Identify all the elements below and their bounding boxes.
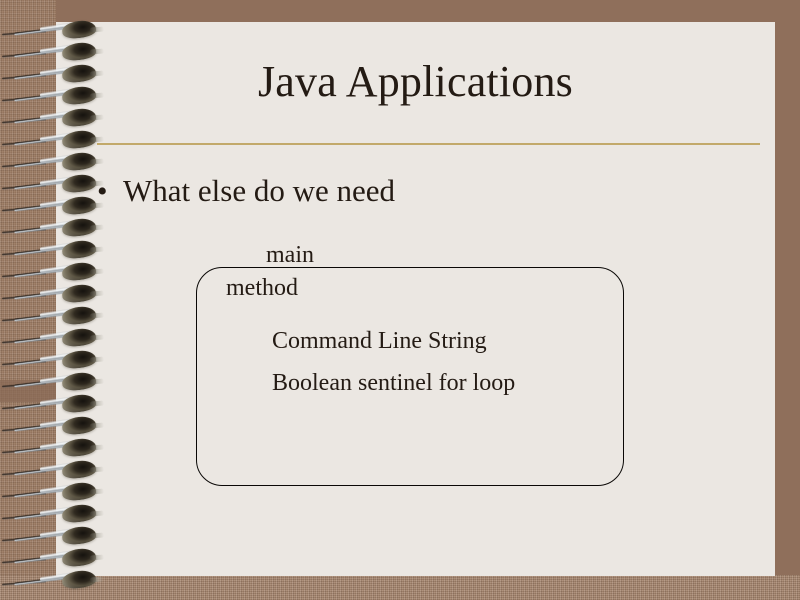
slide-canvas: Java Applications • What else do we need… [0,0,800,600]
main-label: main [266,242,314,269]
bullet-item: • What else do we need [97,174,737,208]
method-box-item: Command Line String [272,320,602,362]
slide-frame-texture-band [0,380,56,402]
method-label: method [226,275,298,302]
slide-frame-texture-bottom [0,575,800,600]
page-title: Java Applications [56,58,775,106]
bullet-item-label: What else do we need [123,174,395,208]
notebook-page: Java Applications • What else do we need… [56,22,775,576]
bullet-marker-icon: • [97,177,123,207]
method-box-item: Boolean sentinel for loop [272,362,602,404]
title-divider-rule [97,143,760,145]
slide-frame-texture-left [0,0,56,575]
method-box-content: Command Line String Boolean sentinel for… [272,320,602,404]
